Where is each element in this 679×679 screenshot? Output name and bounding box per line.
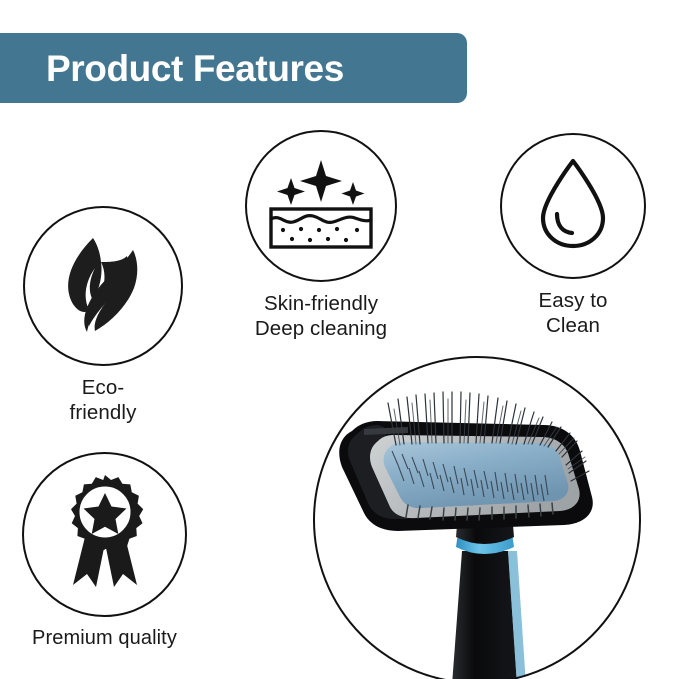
water-drop-icon bbox=[535, 156, 611, 257]
feature-label-premium: Premium quality bbox=[32, 626, 177, 651]
feature-premium-quality: Premium quality bbox=[22, 452, 187, 651]
leaf-flame-icon bbox=[55, 232, 151, 341]
feature-skin-friendly: Skin-friendly Deep cleaning bbox=[245, 130, 397, 341]
feature-label-skin: Skin-friendly Deep cleaning bbox=[255, 291, 387, 341]
skin-layer-sparkle-icon bbox=[265, 156, 377, 257]
header-banner: Product Features bbox=[0, 33, 467, 103]
feature-label-eco: Eco- friendly bbox=[70, 375, 137, 425]
feature-eco-friendly: Eco- friendly bbox=[23, 206, 183, 425]
award-rosette-icon bbox=[51, 473, 159, 596]
feature-easy-to-clean: Easy to Clean bbox=[500, 133, 646, 338]
page-title: Product Features bbox=[46, 50, 344, 87]
feature-icon-circle-eco bbox=[23, 206, 183, 366]
product-image-circle bbox=[312, 355, 642, 679]
infographic-canvas: Product Features Eco- friendly bbox=[0, 0, 679, 679]
feature-icon-circle-easy bbox=[500, 133, 646, 279]
feature-label-easy: Easy to Clean bbox=[538, 288, 607, 338]
feature-icon-circle-skin bbox=[245, 130, 397, 282]
feature-icon-circle-premium bbox=[22, 452, 187, 617]
slicker-brush-illustration bbox=[312, 355, 642, 679]
